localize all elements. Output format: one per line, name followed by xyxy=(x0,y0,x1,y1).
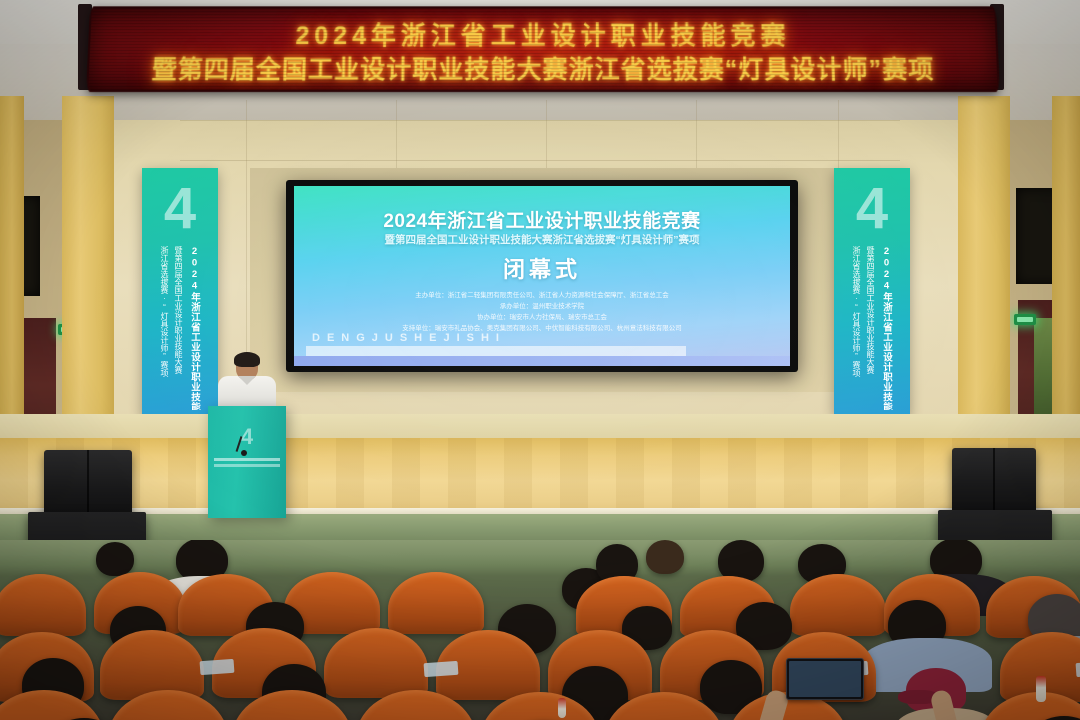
smartphone-icon xyxy=(786,658,864,700)
side-banner-right-column-sub2: 浙江省选拔赛·“灯具设计师”赛项 xyxy=(851,246,862,396)
screen-pinyin-text: DENGJUSHEJISHI xyxy=(312,332,506,344)
audience-head xyxy=(646,540,684,574)
pa-speaker-top-right xyxy=(952,448,1036,514)
screen-credit-line: 协办单位：瑞安市人力社保局、瑞安市总工会 xyxy=(294,312,790,323)
seat-number-tag xyxy=(1076,661,1080,677)
screen-title: 2024年浙江省工业设计职业技能竞赛 xyxy=(294,206,790,233)
screen-decorative-bar xyxy=(306,346,686,356)
wall-seam xyxy=(396,100,397,170)
side-banner-left: 4 2024年浙江省工业设计职业技能竞赛 暨第四届全国工业设计职业技能大赛 浙江… xyxy=(142,168,218,416)
wall-seam xyxy=(546,100,547,170)
podium-label-line xyxy=(214,458,280,461)
smartphone-screen xyxy=(789,661,861,697)
auditorium-seat[interactable] xyxy=(324,628,428,698)
led-banner-line-1: 2024年浙江省工业设计职业技能竞赛 xyxy=(90,16,996,52)
water-bottle xyxy=(558,698,566,718)
auditorium-seat[interactable] xyxy=(790,574,886,636)
microphone-head-icon xyxy=(241,450,247,456)
auditorium-seat[interactable] xyxy=(100,630,204,700)
auditorium-seat[interactable] xyxy=(0,574,86,636)
side-banner-left-text: 2024年浙江省工业设计职业技能竞赛 暨第四届全国工业设计职业技能大赛 浙江省选… xyxy=(142,246,218,414)
led-header-banner: 2024年浙江省工业设计职业技能竞赛 暨第四届全国工业设计职业技能大赛浙江省选拔… xyxy=(86,6,1000,92)
exit-sign-icon xyxy=(1014,314,1036,325)
audience-seating xyxy=(0,540,1080,720)
side-banner-right-number: 4 xyxy=(834,180,910,238)
wall-seam xyxy=(180,120,900,121)
screen-credit-line: 主办单位：浙江省二轻集团有限责任公司、浙江省人力资源和社会保障厅、浙江省总工会 xyxy=(294,290,790,301)
side-banner-right-column-main: 2024年浙江省工业设计职业技能竞赛 xyxy=(879,246,893,410)
side-banner-left-column-main: 2024年浙江省工业设计职业技能竞赛 xyxy=(187,246,201,410)
podium: 4 xyxy=(208,406,286,518)
side-banner-left-column-sub2: 浙江省选拔赛·“灯具设计师”赛项 xyxy=(159,246,170,396)
seat-number-tag xyxy=(424,661,459,677)
speaker-presenter xyxy=(216,354,278,410)
podium-number: 4 xyxy=(208,424,286,450)
side-banner-left-column-sub: 暨第四届全国工业设计职业技能大赛 xyxy=(173,246,184,396)
auditorium-photo: 2024年浙江省工业设计职业技能竞赛 暨第四届全国工业设计职业技能大赛浙江省选拔… xyxy=(0,0,1080,720)
speaker-hair xyxy=(234,352,260,367)
side-banner-right-text: 2024年浙江省工业设计职业技能竞赛 暨第四届全国工业设计职业技能大赛 浙江省选… xyxy=(834,246,910,414)
wall-seam xyxy=(180,160,900,161)
auditorium-seat[interactable] xyxy=(388,572,484,634)
exit-sign-glyph xyxy=(1017,317,1033,322)
projection-screen: 2024年浙江省工业设计职业技能竞赛 暨第四届全国工业设计职业技能大赛浙江省选拔… xyxy=(294,186,790,366)
pa-speaker-top-left xyxy=(44,450,132,518)
screen-credit-line: 承办单位：温州职业技术学院 xyxy=(294,301,790,312)
podium-label-line xyxy=(214,464,280,467)
seat-number-tag xyxy=(200,659,235,675)
side-banner-right: 4 2024年浙江省工业设计职业技能竞赛 暨第四届全国工业设计职业技能大赛 浙江… xyxy=(834,168,910,416)
screen-headline: 闭幕式 xyxy=(294,252,790,284)
screen-footer-band xyxy=(294,356,790,366)
side-banner-right-column-sub: 暨第四届全国工业设计职业技能大赛 xyxy=(865,246,876,396)
water-bottle xyxy=(1036,676,1046,702)
led-banner-line-2: 暨第四届全国工业设计职业技能大赛浙江省选拔赛“灯具设计师”赛项 xyxy=(88,50,997,86)
screen-subtitle: 暨第四届全国工业设计职业技能大赛浙江省选拔赛“灯具设计师”赛项 xyxy=(294,232,790,247)
audience-head xyxy=(96,542,134,576)
wall-seam xyxy=(696,100,697,170)
pa-speaker-seam xyxy=(87,450,89,518)
projection-screen-bezel: 2024年浙江省工业设计职业技能竞赛 暨第四届全国工业设计职业技能大赛浙江省选拔… xyxy=(286,180,798,372)
pa-speaker-seam xyxy=(993,448,995,514)
side-banner-left-number: 4 xyxy=(142,180,218,238)
